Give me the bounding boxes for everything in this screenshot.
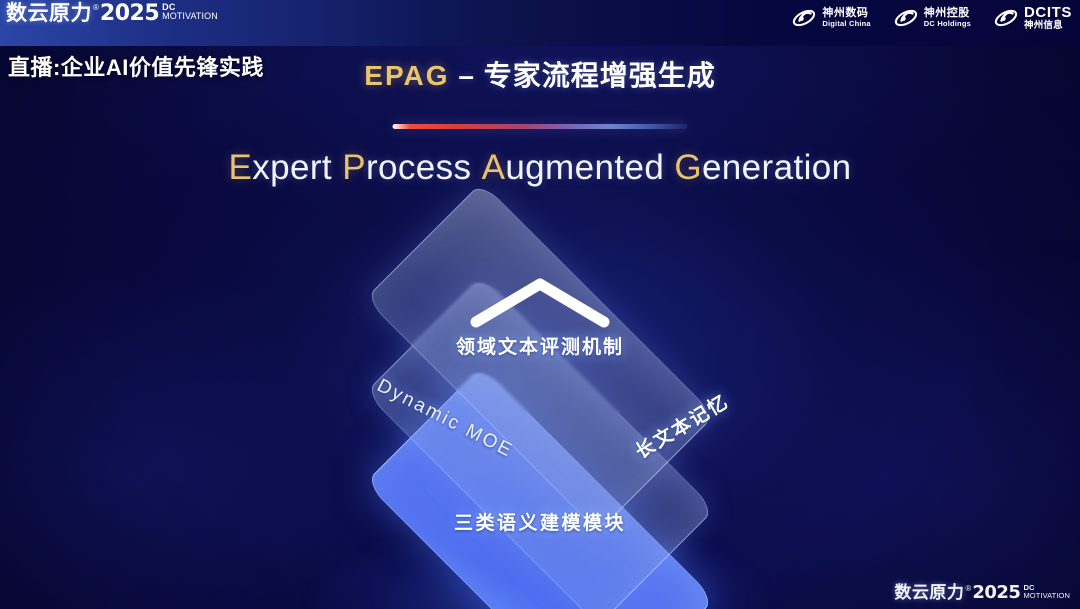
event-logo-cn: 数云原力 — [6, 2, 92, 26]
layer-label-top: 领域文本评测机制 — [456, 332, 624, 359]
brand-dcits-cn: 神州信息 — [1024, 21, 1072, 31]
title-chinese: 专家流程增强生成 — [484, 60, 716, 91]
event-logo-year: 2025 — [100, 2, 159, 26]
event-logo-registered: ® — [93, 2, 99, 13]
event-logo: 数云原力 ® 2025 DC MOTIVATION — [6, 2, 218, 26]
layer-stack-diagram: 领域文本评测机制 Dynamic MOE 长文本记忆 三类语义建模模块 — [300, 226, 780, 566]
subtitle-cap-e: E — [229, 148, 253, 187]
title-dash: – — [450, 60, 484, 91]
event-logo-dc-motivation: DC MOTIVATION — [162, 3, 218, 21]
watermark-dc-motivation: DC MOTIVATION — [1023, 584, 1070, 600]
brand-digital-china: 神州数码 Digital China — [791, 5, 870, 31]
brand-dc-holdings-text: 神州控股 DC Holdings — [924, 8, 971, 27]
title-divider — [393, 124, 688, 129]
title-acronym: EPAG — [364, 60, 449, 91]
watermark-motivation: MOTIVATION — [1023, 592, 1070, 600]
brand-dc-holdings-en: DC Holdings — [924, 20, 971, 28]
subtitle-rest-process: rocess — [366, 148, 472, 187]
subtitle-cap-a: A — [482, 148, 506, 187]
watermark-year: 2025 — [972, 583, 1020, 603]
watermark-cn: 数云原力 — [894, 583, 964, 603]
live-label: 直播:企业AI价值先锋实践 — [8, 50, 264, 82]
brand-digital-china-en: Digital China — [822, 20, 870, 28]
event-logo-motivation: MOTIVATION — [162, 12, 218, 21]
subtitle-cap-p: P — [342, 148, 366, 187]
brand-dcits: DCITS 神州信息 — [993, 5, 1072, 31]
chevron-up-icon — [466, 274, 614, 332]
watermark-registered: ® — [965, 583, 971, 594]
page-subtitle: Expert Process Augmented Generation — [0, 148, 1080, 188]
brand-dcits-name: DCITS — [1024, 5, 1072, 21]
layer-label-bottom: 三类语义建模模块 — [454, 508, 626, 535]
brand-dc-holdings: 神州控股 DC Holdings — [893, 5, 971, 31]
swirl-icon — [893, 5, 919, 31]
partner-logos: 神州数码 Digital China 神州控股 DC Holdings — [791, 5, 1072, 31]
subtitle-rest-expert: xpert — [252, 148, 332, 187]
brand-digital-china-text: 神州数码 Digital China — [822, 8, 870, 27]
subtitle-cap-g: G — [674, 148, 702, 187]
swirl-icon — [993, 5, 1019, 31]
brand-dcits-text: DCITS 神州信息 — [1024, 5, 1072, 31]
slide-canvas: 数云原力 ® 2025 DC MOTIVATION 直播:企业AI价值先锋实践 … — [0, 0, 1080, 609]
footer-watermark: 数云原力 ® 2025 DC MOTIVATION — [894, 583, 1070, 603]
subtitle-rest-generation: eneration — [702, 148, 852, 187]
swirl-icon — [791, 5, 817, 31]
subtitle-rest-augmented: ugmented — [505, 148, 664, 187]
